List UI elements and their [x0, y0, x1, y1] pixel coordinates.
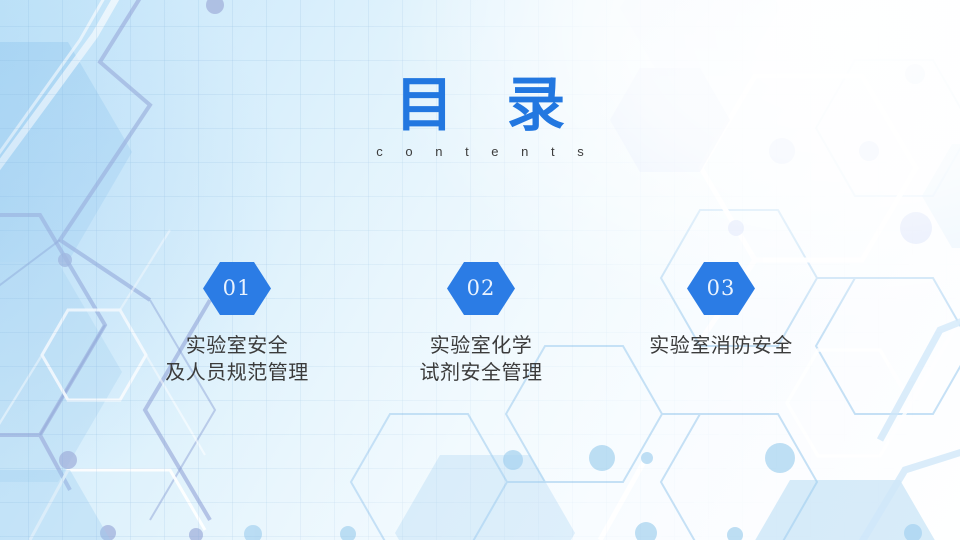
contents-list: 01 实验室安全 及人员规范管理 02 实验室化学 试剂安全管理 03 实验室消…	[0, 255, 960, 415]
contents-item-3[interactable]: 03 实验室消防安全	[601, 255, 841, 360]
hexagon-number-02: 02	[467, 278, 496, 299]
hexagon-badge-03[interactable]: 03	[687, 262, 755, 315]
hexagon-number-03: 03	[707, 278, 736, 299]
page-subtitle: c o n t e n t s	[0, 144, 960, 159]
hexagon-badge-02[interactable]: 02	[447, 262, 515, 315]
page-title: 目 录	[0, 72, 960, 138]
contents-item-1[interactable]: 01 实验室安全 及人员规范管理	[117, 255, 357, 387]
contents-item-label-1: 实验室安全 及人员规范管理	[117, 333, 357, 387]
hexagon-number-01: 01	[223, 278, 252, 299]
contents-item-2[interactable]: 02 实验室化学 试剂安全管理	[361, 255, 601, 387]
presentation-slide: 目 录 c o n t e n t s 01 实验室安全 及人员规范管理 02 …	[0, 0, 960, 540]
contents-item-label-3: 实验室消防安全	[601, 333, 841, 360]
hexagon-badge-01[interactable]: 01	[203, 262, 271, 315]
title-block: 目 录 c o n t e n t s	[0, 72, 960, 159]
contents-item-label-2: 实验室化学 试剂安全管理	[361, 333, 601, 387]
slide-content: 目 录 c o n t e n t s 01 实验室安全 及人员规范管理 02 …	[0, 0, 960, 540]
